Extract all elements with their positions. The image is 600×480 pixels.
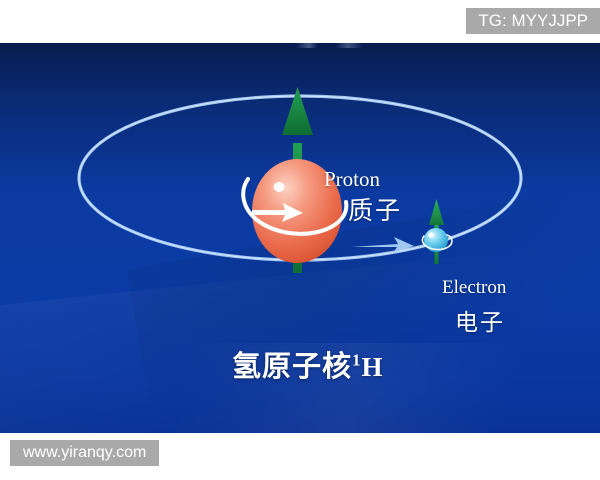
diagram-title-text: 氢原子核 xyxy=(232,351,352,383)
proton-label-en: Proton xyxy=(324,167,380,192)
site-watermark: www.yiranqy.com xyxy=(10,440,159,466)
diagram-title: 氢原子核1H xyxy=(232,343,384,385)
proton-label-zh: 质子 xyxy=(348,191,402,227)
diagram-title-element: H xyxy=(362,352,384,382)
screenshot-canvas: Proton 质子 Electron 电子 氢原子核1H 有趣探索 ID:340… xyxy=(0,0,600,480)
atom-illustration-panel: Proton 质子 Electron 电子 氢原子核1H 有趣探索 ID:340… xyxy=(0,43,600,433)
electron-label-en: Electron xyxy=(442,277,506,299)
electron-label-zh: 电子 xyxy=(455,303,505,337)
telegram-watermark: TG: MYYJJPP xyxy=(466,8,600,34)
diagram-title-superscript: 1 xyxy=(352,350,362,369)
